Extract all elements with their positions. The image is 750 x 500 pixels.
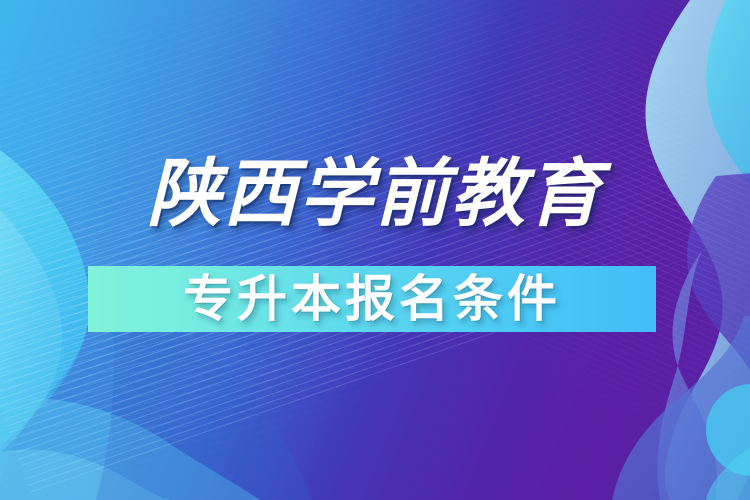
wave-right-pale bbox=[645, 0, 750, 500]
wave-left-secondary bbox=[0, 200, 62, 500]
wave-right-dot bbox=[706, 384, 750, 476]
subtitle-text: 专升本报名条件 bbox=[183, 270, 561, 328]
wave-right-lower-cyan bbox=[706, 438, 750, 500]
promo-banner: 陕西学前教育 专升本报名条件 bbox=[0, 0, 750, 500]
wave-bottom-left bbox=[0, 398, 260, 500]
wave-bottom-left-glow bbox=[0, 450, 170, 500]
page-title: 陕西学前教育 bbox=[0, 152, 750, 236]
hairline-sweep-left bbox=[0, 0, 750, 498]
wave-right-periwinkle bbox=[657, 250, 717, 500]
wave-bottom-right bbox=[612, 316, 750, 500]
wave-shapes-svg bbox=[0, 0, 750, 500]
subtitle-bar: 专升本报名条件 bbox=[88, 266, 656, 332]
background-artwork bbox=[0, 0, 750, 500]
